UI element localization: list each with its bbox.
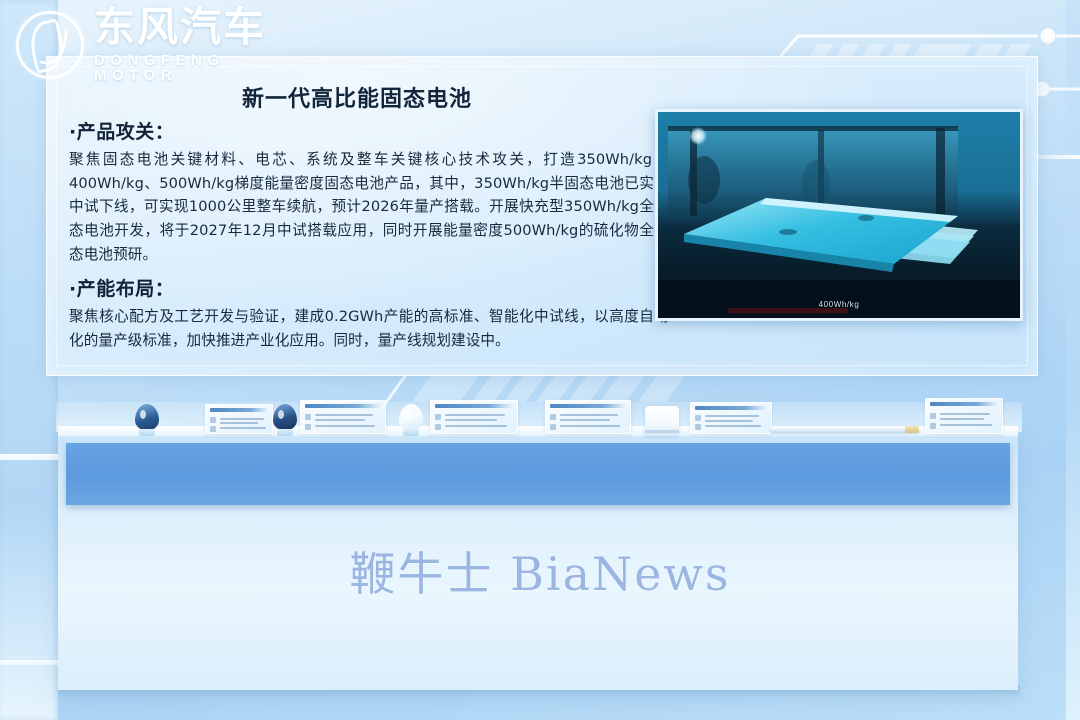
placard-line-3: [445, 425, 507, 427]
placard-line-2: [220, 422, 258, 424]
battery-cell-photo-graphic: [658, 112, 1020, 318]
placard-line-3: [220, 427, 266, 429]
placard-icon-b: [435, 424, 441, 430]
dome-highlight: [140, 410, 146, 419]
photo-caption: 400Wh/kg: [658, 300, 1020, 309]
placard-line-2: [705, 420, 753, 422]
placard-icon-a: [695, 415, 701, 421]
information-board: 新一代高比能固态电池 ·产品攻关： 聚焦固态电池关键材料、电芯、系统及整车关键核…: [46, 56, 1038, 376]
left-wall-seam-upper: [0, 454, 58, 460]
info-placard-6[interactable]: [925, 398, 1003, 434]
placard-line-1: [315, 414, 373, 416]
placard-line-2: [445, 419, 497, 421]
sample-dome: [135, 404, 159, 430]
white-cylinder-sample[interactable]: [645, 406, 679, 436]
board-text-column: ·产品攻关： 聚焦固态电池关键材料、电芯、系统及整车关键核心技术攻关，打造350…: [69, 117, 669, 352]
section-heading-capacity: ·产能布局：: [69, 274, 669, 301]
dongfeng-swirl-logo-icon: [16, 11, 84, 79]
board-title: 新一代高比能固态电池: [47, 81, 667, 113]
placard-title-bar: [695, 406, 767, 410]
placard-line-3: [315, 425, 375, 427]
placard-line-2: [560, 419, 610, 421]
placard-icon-a: [930, 413, 936, 419]
counter-blue-band: [66, 443, 1010, 505]
placard-icon-a: [210, 417, 216, 423]
placard-icon-b: [930, 423, 936, 429]
placard-line-3: [940, 424, 992, 426]
placard-title-bar: [550, 404, 626, 408]
exhibition-booth-scene: 东风汽车 DONGFENG MOTOR 新一代高比能固态电池 ·产品攻关： 聚焦…: [0, 0, 1080, 720]
info-placard-5[interactable]: [690, 402, 772, 434]
dome-highlight: [278, 410, 284, 419]
placard-line-1: [940, 413, 990, 415]
info-placard-1[interactable]: [205, 404, 273, 434]
placard-line-1: [220, 418, 264, 420]
brand-logo-text: 东风汽车 DONGFENG MOTOR: [94, 7, 306, 83]
placard-icon-b: [210, 426, 216, 432]
section-body-capacity: 聚焦核心配方及工艺开发与验证，建成0.2GWh产能的高标准、智能化中试线，以高度…: [69, 305, 669, 352]
info-placard-2[interactable]: [300, 400, 386, 434]
placard-title-bar: [930, 402, 998, 406]
sample-base: [139, 429, 155, 436]
brand-logo: 东风汽车 DONGFENG MOTOR: [16, 8, 306, 82]
brand-name-en: DONGFENG MOTOR: [94, 53, 306, 83]
section-heading-product: ·产品攻关：: [69, 117, 669, 144]
placard-title-bar: [210, 408, 268, 412]
placard-icon-b: [550, 424, 556, 430]
placard-icon-a: [435, 414, 441, 420]
blue-powder-sample-1[interactable]: [132, 404, 162, 436]
sample-base: [277, 429, 293, 436]
battery-cell-photo: 400Wh/kg: [655, 109, 1023, 321]
metal-rod-tip: [905, 426, 919, 433]
blue-powder-sample-2[interactable]: [270, 404, 300, 436]
sample-dome: [273, 404, 297, 430]
booth-right-wall: [1066, 0, 1080, 720]
placard-line-3: [705, 425, 761, 427]
placard-title-bar: [305, 404, 381, 408]
section-body-product: 聚焦固态电池关键材料、电芯、系统及整车关键核心技术攻关，打造350Wh/kg、4…: [69, 148, 669, 266]
placard-title-bar: [435, 404, 513, 408]
sample-base: [403, 429, 419, 436]
placard-icon-b: [305, 424, 311, 430]
white-powder-sample-1[interactable]: [396, 404, 426, 436]
placard-line-2: [940, 418, 984, 420]
placard-line-3: [560, 425, 620, 427]
brand-name-cn: 东风汽车: [94, 7, 306, 48]
placard-icon-a: [305, 414, 311, 420]
exhibit-row: [0, 392, 1080, 436]
placard-line-1: [705, 415, 759, 417]
left-wall-seam-lower: [0, 660, 60, 665]
placard-line-1: [560, 414, 618, 416]
placard-line-2: [315, 419, 365, 421]
placard-icon-b: [695, 424, 701, 430]
sample-dome: [399, 404, 423, 430]
info-placard-3[interactable]: [430, 400, 518, 434]
dome-highlight: [404, 410, 410, 419]
placard-icon-a: [550, 414, 556, 420]
metal-rod-sample[interactable]: [770, 427, 920, 433]
placard-line-1: [445, 414, 505, 416]
info-placard-4[interactable]: [545, 400, 631, 434]
